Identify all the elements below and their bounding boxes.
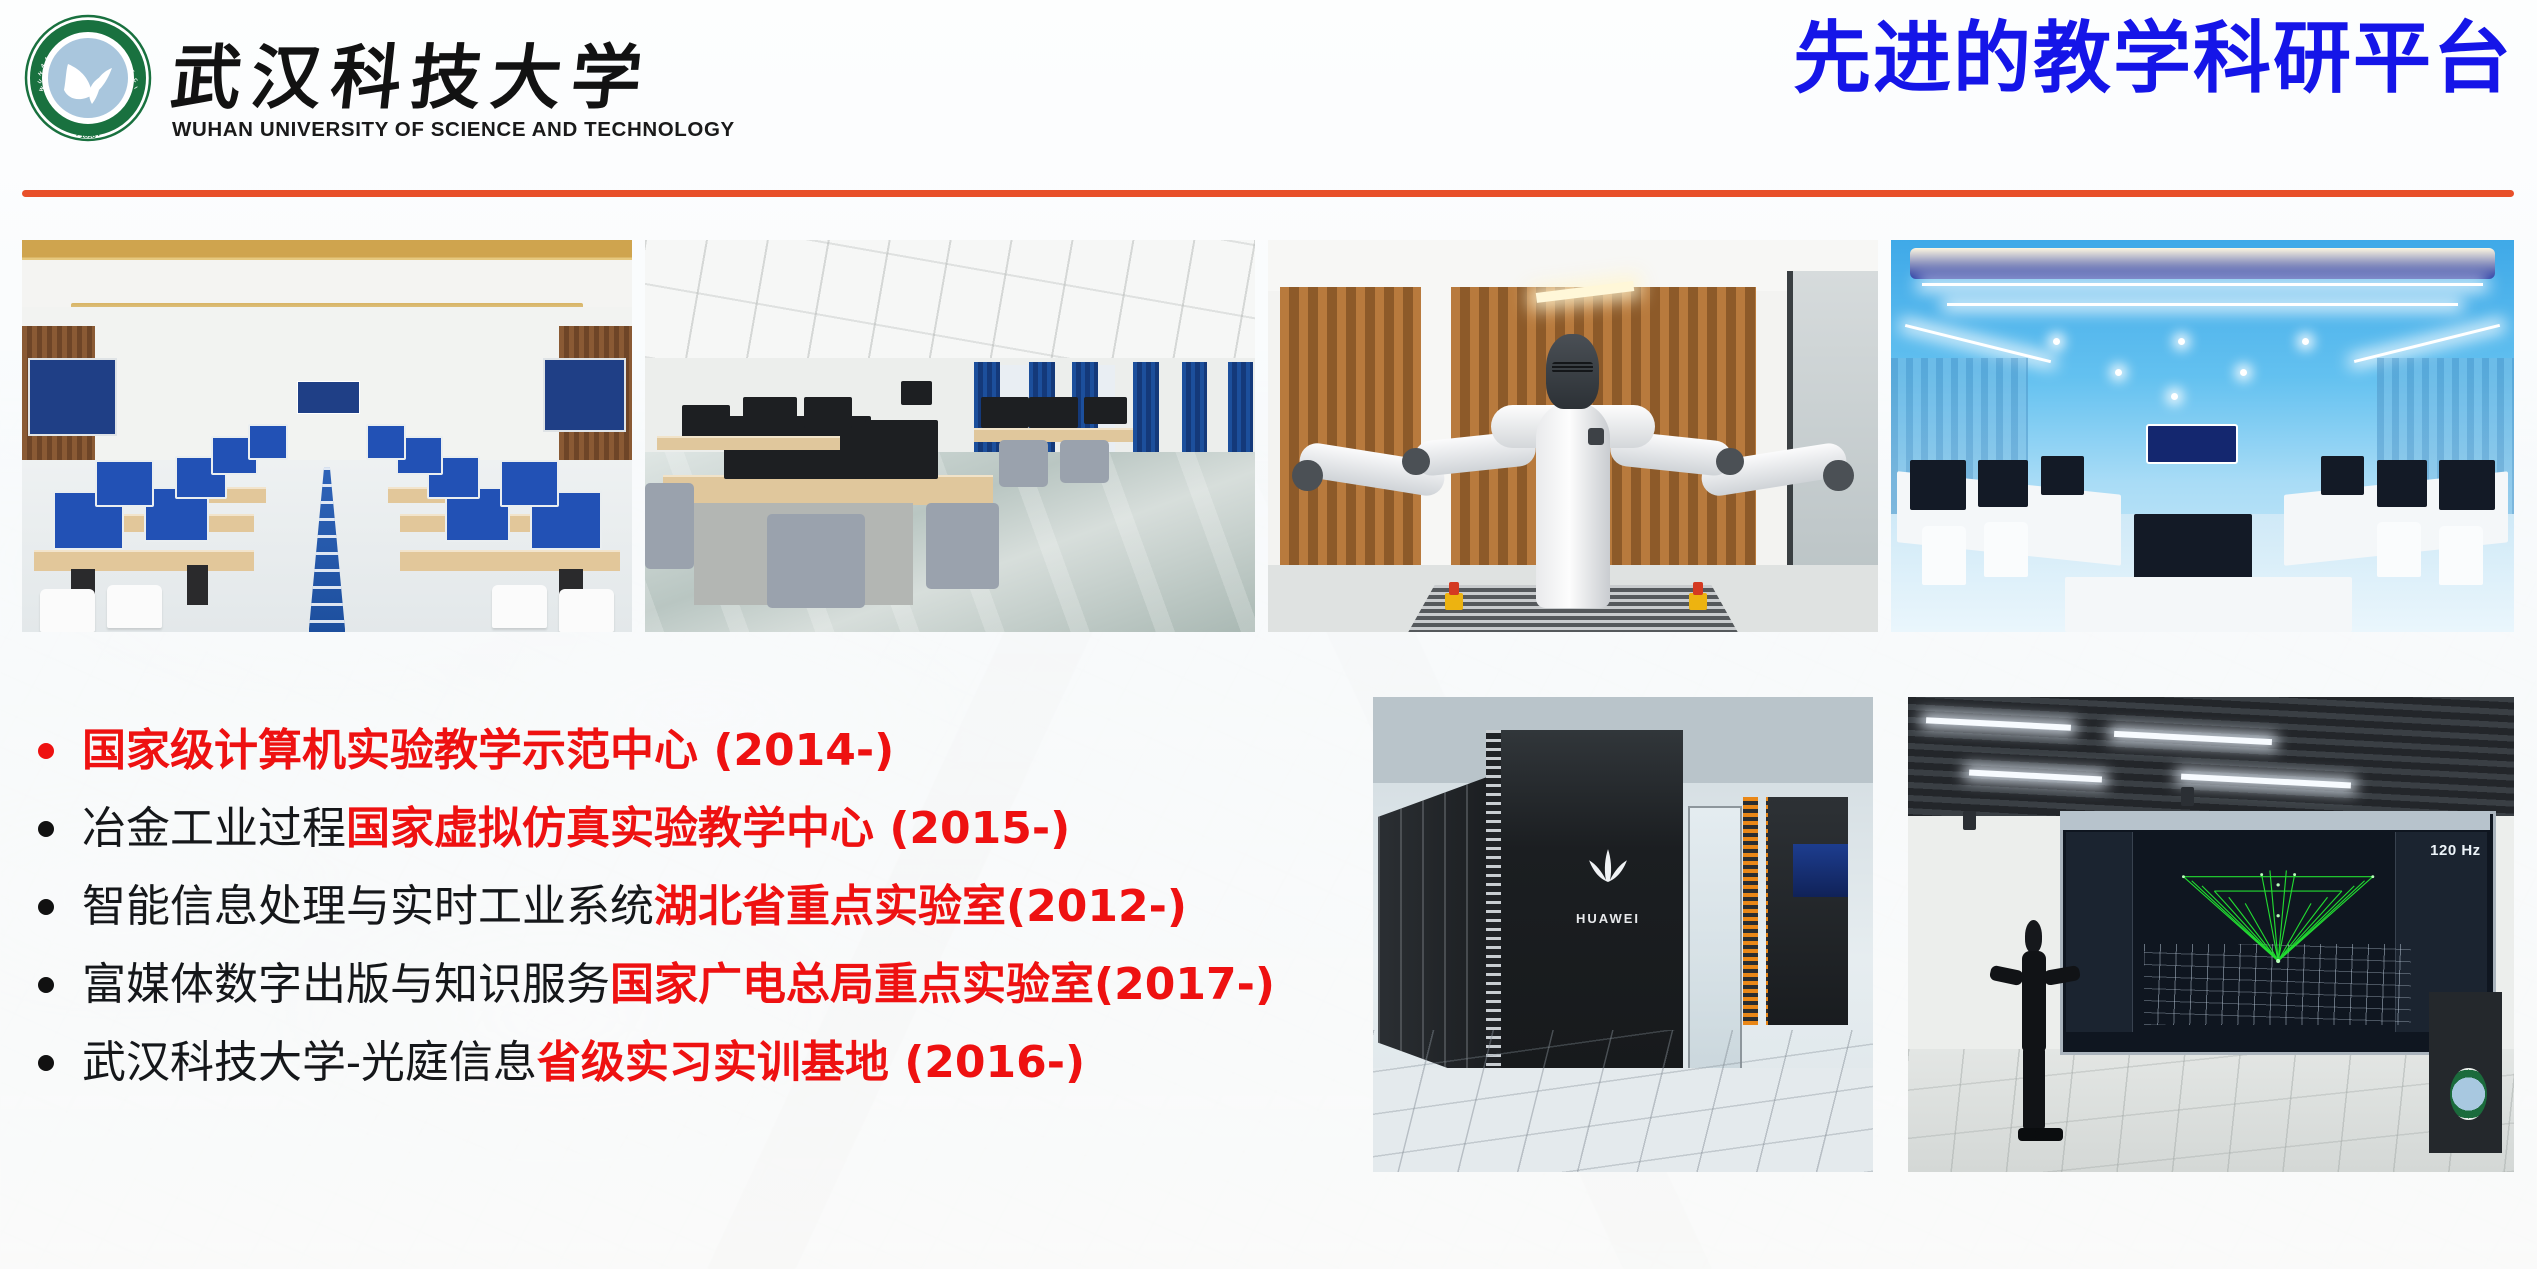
list-item-prefix: 智能信息处理与实时工业系统 <box>82 881 654 932</box>
podium-seal-icon <box>2450 1068 2486 1120</box>
platform-list: 国家级计算机实验教学示范中心 (2014-) 冶金工业过程国家虚拟仿真实验教学中… <box>22 712 1352 1102</box>
list-item-prefix: 富媒体数字出版与知识服务 <box>82 959 610 1010</box>
photo-huawei-data-center: HUAWEI <box>1373 697 1873 1172</box>
slide-root: · 1898 · W U H A N S C I 武汉科技大学 WUHAN UN… <box>0 0 2537 1269</box>
list-item-label: 富媒体数字出版与知识服务国家广电总局重点实验室(2017-) <box>82 963 1275 1007</box>
list-item-highlight: 湖北省重点实验室(2012-) <box>654 881 1187 932</box>
list-item-prefix: 武汉科技大学-光庭信息 <box>82 1037 537 1088</box>
list-item-label: 国家级计算机实验教学示范中心 (2014-) <box>82 729 894 773</box>
list-item-label: 武汉科技大学-光庭信息省级实习实训基地 (2016-) <box>82 1041 1085 1085</box>
mocap-camera-icon <box>1963 811 1976 830</box>
list-item: 富媒体数字出版与知识服务国家广电总局重点实验室(2017-) <box>22 946 1352 1024</box>
list-item: 武汉科技大学-光庭信息省级实习实训基地 (2016-) <box>22 1024 1352 1102</box>
photo-research-office-lab <box>645 240 1255 632</box>
page-title: 先进的教学科研平台 <box>1793 20 2513 98</box>
university-name-en: WUHAN UNIVERSITY OF SCIENCE AND TECHNOLO… <box>172 118 735 142</box>
bullet-marker <box>38 1055 54 1071</box>
list-item-highlight: 国家广电总局重点实验室(2017-) <box>610 959 1275 1010</box>
bullet-marker <box>38 977 54 993</box>
bullet-marker <box>38 743 54 759</box>
university-logo: · 1898 · W U H A N S C I 武汉科技大学 WUHAN UN… <box>22 8 662 168</box>
photo-motion-capture-lab: 120 Hz <box>1908 697 2514 1172</box>
huawei-brand-text: HUAWEI <box>1563 911 1653 926</box>
mocap-camera-icon <box>2181 787 2194 806</box>
photo-blue-led-computer-lab <box>1891 240 2514 632</box>
bullet-marker <box>38 899 54 915</box>
huawei-logo-icon <box>1573 830 1643 906</box>
photo-humanoid-robot <box>1268 240 1878 632</box>
mocap-visualization <box>2163 854 2393 978</box>
bullet-marker <box>38 821 54 837</box>
list-item: 智能信息处理与实时工业系统湖北省重点实验室(2012-) <box>22 868 1352 946</box>
photo-computer-classroom <box>22 240 632 632</box>
mocap-performer <box>2005 920 2063 1139</box>
list-item-label: 冶金工业过程国家虚拟仿真实验教学中心 (2015-) <box>82 807 1070 851</box>
list-item: 国家级计算机实验教学示范中心 (2014-) <box>22 712 1352 790</box>
list-item-highlight: 国家虚拟仿真实验教学中心 (2015-) <box>346 803 1070 854</box>
capture-frame-rate-readout: 120 Hz <box>2430 842 2481 859</box>
list-item-highlight: 省级实习实训基地 (2016-) <box>537 1037 1085 1088</box>
university-seal-icon: · 1898 · W U H A N S C I <box>22 12 154 144</box>
list-item-prefix: 冶金工业过程 <box>82 803 346 854</box>
list-item: 冶金工业过程国家虚拟仿真实验教学中心 (2015-) <box>22 790 1352 868</box>
list-item-label: 智能信息处理与实时工业系统湖北省重点实验室(2012-) <box>82 885 1187 929</box>
header-divider <box>22 190 2514 197</box>
university-name-cn: 武汉科技大学 <box>167 22 658 123</box>
svg-text:· 1898 ·: · 1898 · <box>76 133 100 140</box>
